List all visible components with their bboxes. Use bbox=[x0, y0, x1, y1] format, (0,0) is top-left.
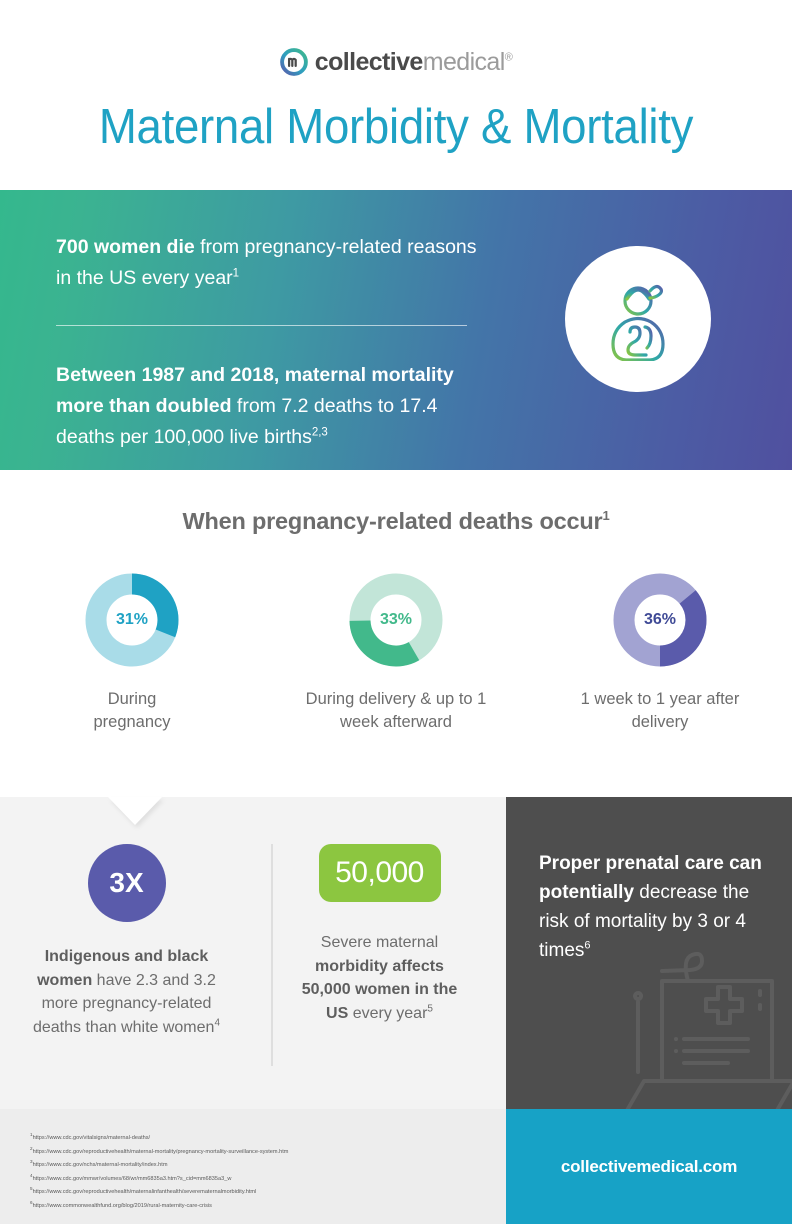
prenatal-footnote-ref: 6 bbox=[584, 940, 590, 952]
donut-value-33: 33% bbox=[346, 570, 446, 670]
stat-3x-footnote-ref: 4 bbox=[214, 1017, 220, 1028]
donut-value-31: 31% bbox=[82, 570, 182, 670]
donut-item-during-delivery: 33% During delivery & up to 1 week after… bbox=[276, 570, 516, 734]
donut-caption-1: During delivery & up to 1 week afterward bbox=[286, 688, 506, 734]
stat-50000-rest: every year bbox=[348, 1005, 427, 1022]
disparity-stats-panel: 3X Indigenous and black women have 2.3 a… bbox=[0, 797, 506, 1109]
footnote-2: 2https://www.cdc.gov/reproductivehealth/… bbox=[30, 1146, 506, 1160]
brand-logo-wordmark: collectivemedical® bbox=[315, 50, 512, 75]
footnote-4: 4https://www.cdc.gov/mmwr/volumes/68/wr/… bbox=[30, 1173, 506, 1187]
footnote-1-url[interactable]: https://www.cdc.gov/vitalsigns/maternal-… bbox=[33, 1135, 151, 1141]
stat-3x-text: Indigenous and black women have 2.3 and … bbox=[32, 945, 222, 1039]
footnote-1: 1https://www.cdc.gov/vitalsigns/maternal… bbox=[30, 1132, 506, 1146]
stat-700-women-die: 700 women die from pregnancy-related rea… bbox=[56, 232, 486, 294]
footer-bar: collectivemedical.com bbox=[506, 1109, 792, 1224]
stat-700-footnote-ref: 1 bbox=[233, 268, 239, 280]
stat-50000-text: Severe maternal morbidity affects 50,000… bbox=[297, 931, 462, 1025]
infographic-page: collectivemedical® Maternal Morbidity & … bbox=[0, 0, 792, 1224]
donut-heading-footnote-ref: 1 bbox=[603, 508, 610, 523]
footnote-6-url[interactable]: https://www.commonwealthfund.org/blog/20… bbox=[33, 1203, 212, 1209]
stat-50000-lead: Severe maternal bbox=[321, 934, 438, 951]
footer-website-link[interactable]: collectivemedical.com bbox=[561, 1157, 737, 1177]
footnote-4-url[interactable]: https://www.cdc.gov/mmwr/volumes/68/wr/m… bbox=[33, 1176, 232, 1182]
footnote-2-url[interactable]: https://www.cdc.gov/reproductivehealth/m… bbox=[33, 1149, 289, 1155]
stat-3x-block: 3X Indigenous and black women have 2.3 a… bbox=[0, 797, 253, 1109]
logo-trademark: ® bbox=[505, 51, 513, 63]
logo-text-bold: collective bbox=[315, 48, 423, 76]
donut-value-36-text: 36% bbox=[644, 611, 676, 629]
pregnant-woman-icon-badge bbox=[565, 246, 711, 392]
stat-50000-block: 50,000 Severe maternal morbidity affects… bbox=[253, 797, 506, 1109]
stat-doubled-footnote-ref: 2,3 bbox=[312, 427, 328, 439]
pregnant-woman-icon bbox=[601, 277, 675, 361]
stat-700-bold: 700 women die bbox=[56, 236, 195, 258]
donut-value-36: 36% bbox=[610, 570, 710, 670]
stat-mortality-doubled: Between 1987 and 2018, maternal mortalit… bbox=[56, 360, 486, 453]
badge-3x: 3X bbox=[88, 844, 166, 922]
footnote-5-url[interactable]: https://www.cdc.gov/reproductivehealth/m… bbox=[33, 1189, 257, 1195]
donut-value-33-text: 33% bbox=[380, 611, 412, 629]
donut-value-31-text: 31% bbox=[116, 611, 148, 629]
footnote-3: 3https://www.cdc.gov/nchs/maternal-morta… bbox=[30, 1159, 506, 1173]
key-stats-text: 700 women die from pregnancy-related rea… bbox=[56, 232, 486, 453]
footnote-3-url[interactable]: https://www.cdc.gov/nchs/maternal-mortal… bbox=[33, 1162, 168, 1168]
footnotes-list: 1https://www.cdc.gov/vitalsigns/maternal… bbox=[0, 1109, 506, 1224]
donut-caption-0: During pregnancy bbox=[67, 688, 197, 734]
donut-item-after-delivery: 36% 1 week to 1 year after delivery bbox=[540, 570, 780, 734]
prenatal-care-text: Proper prenatal care can potentially dec… bbox=[539, 849, 769, 965]
donut-chart-36: 36% bbox=[610, 570, 710, 670]
prenatal-care-panel: Proper prenatal care can potentially dec… bbox=[506, 797, 792, 1109]
donut-caption-2: 1 week to 1 year after delivery bbox=[565, 688, 755, 734]
donut-charts-section: When pregnancy-related deaths occur1 31%… bbox=[0, 470, 792, 797]
donut-chart-31: 31% bbox=[82, 570, 182, 670]
key-stats-band: 700 women die from pregnancy-related rea… bbox=[0, 190, 792, 470]
page-title: Maternal Morbidity & Mortality bbox=[28, 99, 765, 155]
donut-section-heading: When pregnancy-related deaths occur1 bbox=[0, 508, 792, 535]
footnote-5: 5https://www.cdc.gov/reproductivehealth/… bbox=[30, 1186, 506, 1200]
donut-chart-33: 33% bbox=[346, 570, 446, 670]
donut-row: 31% During pregnancy 33% During delivery… bbox=[0, 570, 792, 734]
badge-50000-text: 50,000 bbox=[335, 856, 424, 890]
header: collectivemedical® Maternal Morbidity & … bbox=[0, 0, 792, 190]
brand-logo[interactable]: collectivemedical® bbox=[0, 48, 792, 76]
stat-50000-footnote-ref: 5 bbox=[427, 1003, 433, 1014]
badge-50000: 50,000 bbox=[319, 844, 441, 902]
logo-text-light: medical bbox=[423, 48, 505, 76]
collective-medical-circle-m-mark-icon bbox=[280, 48, 308, 76]
band-divider bbox=[56, 325, 467, 326]
footnote-6: 6https://www.commonwealthfund.org/blog/2… bbox=[30, 1200, 506, 1214]
badge-3x-text: 3X bbox=[109, 867, 143, 899]
donut-item-during-pregnancy: 31% During pregnancy bbox=[12, 570, 252, 734]
donut-heading-text: When pregnancy-related deaths occur bbox=[182, 508, 602, 534]
